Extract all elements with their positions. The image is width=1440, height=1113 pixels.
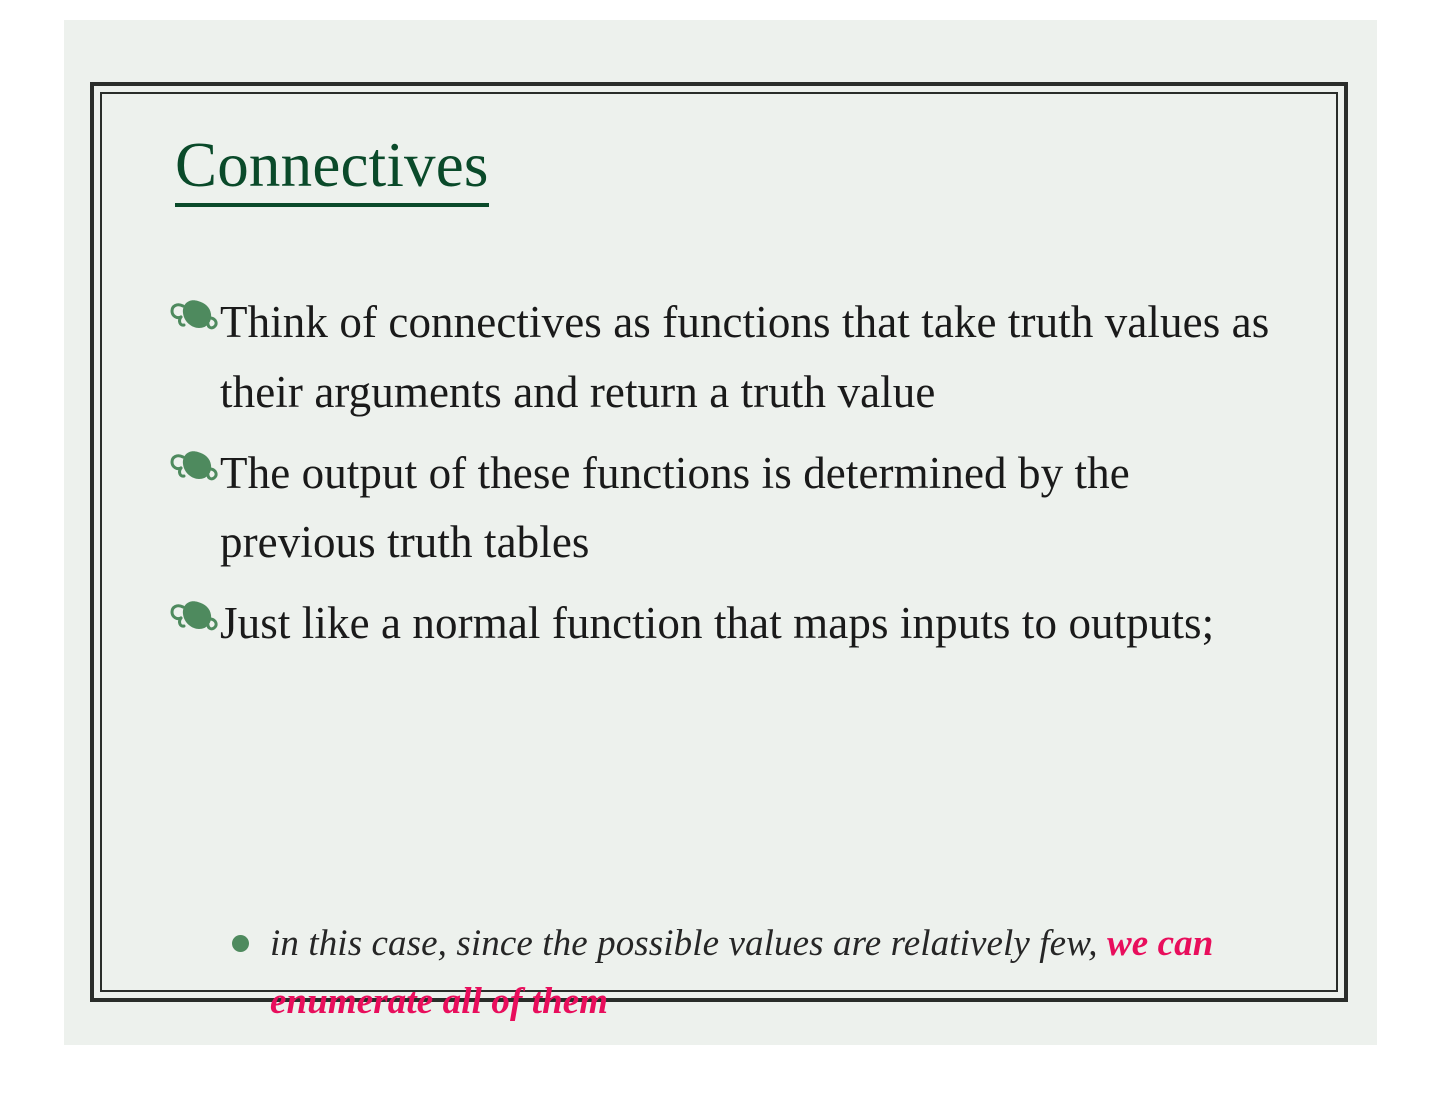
fleuron-bullet-icon: [168, 445, 220, 501]
list-item: Just like a normal function that maps in…: [168, 589, 1278, 659]
list-item: Think of connectives as functions that t…: [168, 288, 1278, 428]
bullet-list: Think of connectives as functions that t…: [168, 288, 1278, 670]
fleuron-bullet-icon: [168, 294, 220, 350]
sub-bullet-list: in this case, since the possible values …: [232, 915, 1232, 1032]
round-dot-bullet-icon: [232, 935, 270, 952]
list-item-label: The output of these functions is determi…: [220, 439, 1278, 579]
fleuron-bullet-icon: [168, 595, 220, 651]
list-item-label: Just like a normal function that maps in…: [220, 589, 1278, 659]
list-item-label: Think of connectives as functions that t…: [220, 288, 1278, 428]
list-item: in this case, since the possible values …: [232, 915, 1232, 1032]
sub-list-item-plain-text: in this case, since the possible values …: [270, 923, 1107, 964]
page-title-text: Connectives: [175, 134, 489, 207]
slide-root: Connectives Think of connectives as func…: [0, 0, 1440, 1113]
page-title: Connectives: [175, 134, 489, 207]
list-item: The output of these functions is determi…: [168, 439, 1278, 579]
sub-list-item-label: in this case, since the possible values …: [270, 915, 1232, 1032]
slide-content-area: Connectives Think of connectives as func…: [100, 92, 1338, 992]
